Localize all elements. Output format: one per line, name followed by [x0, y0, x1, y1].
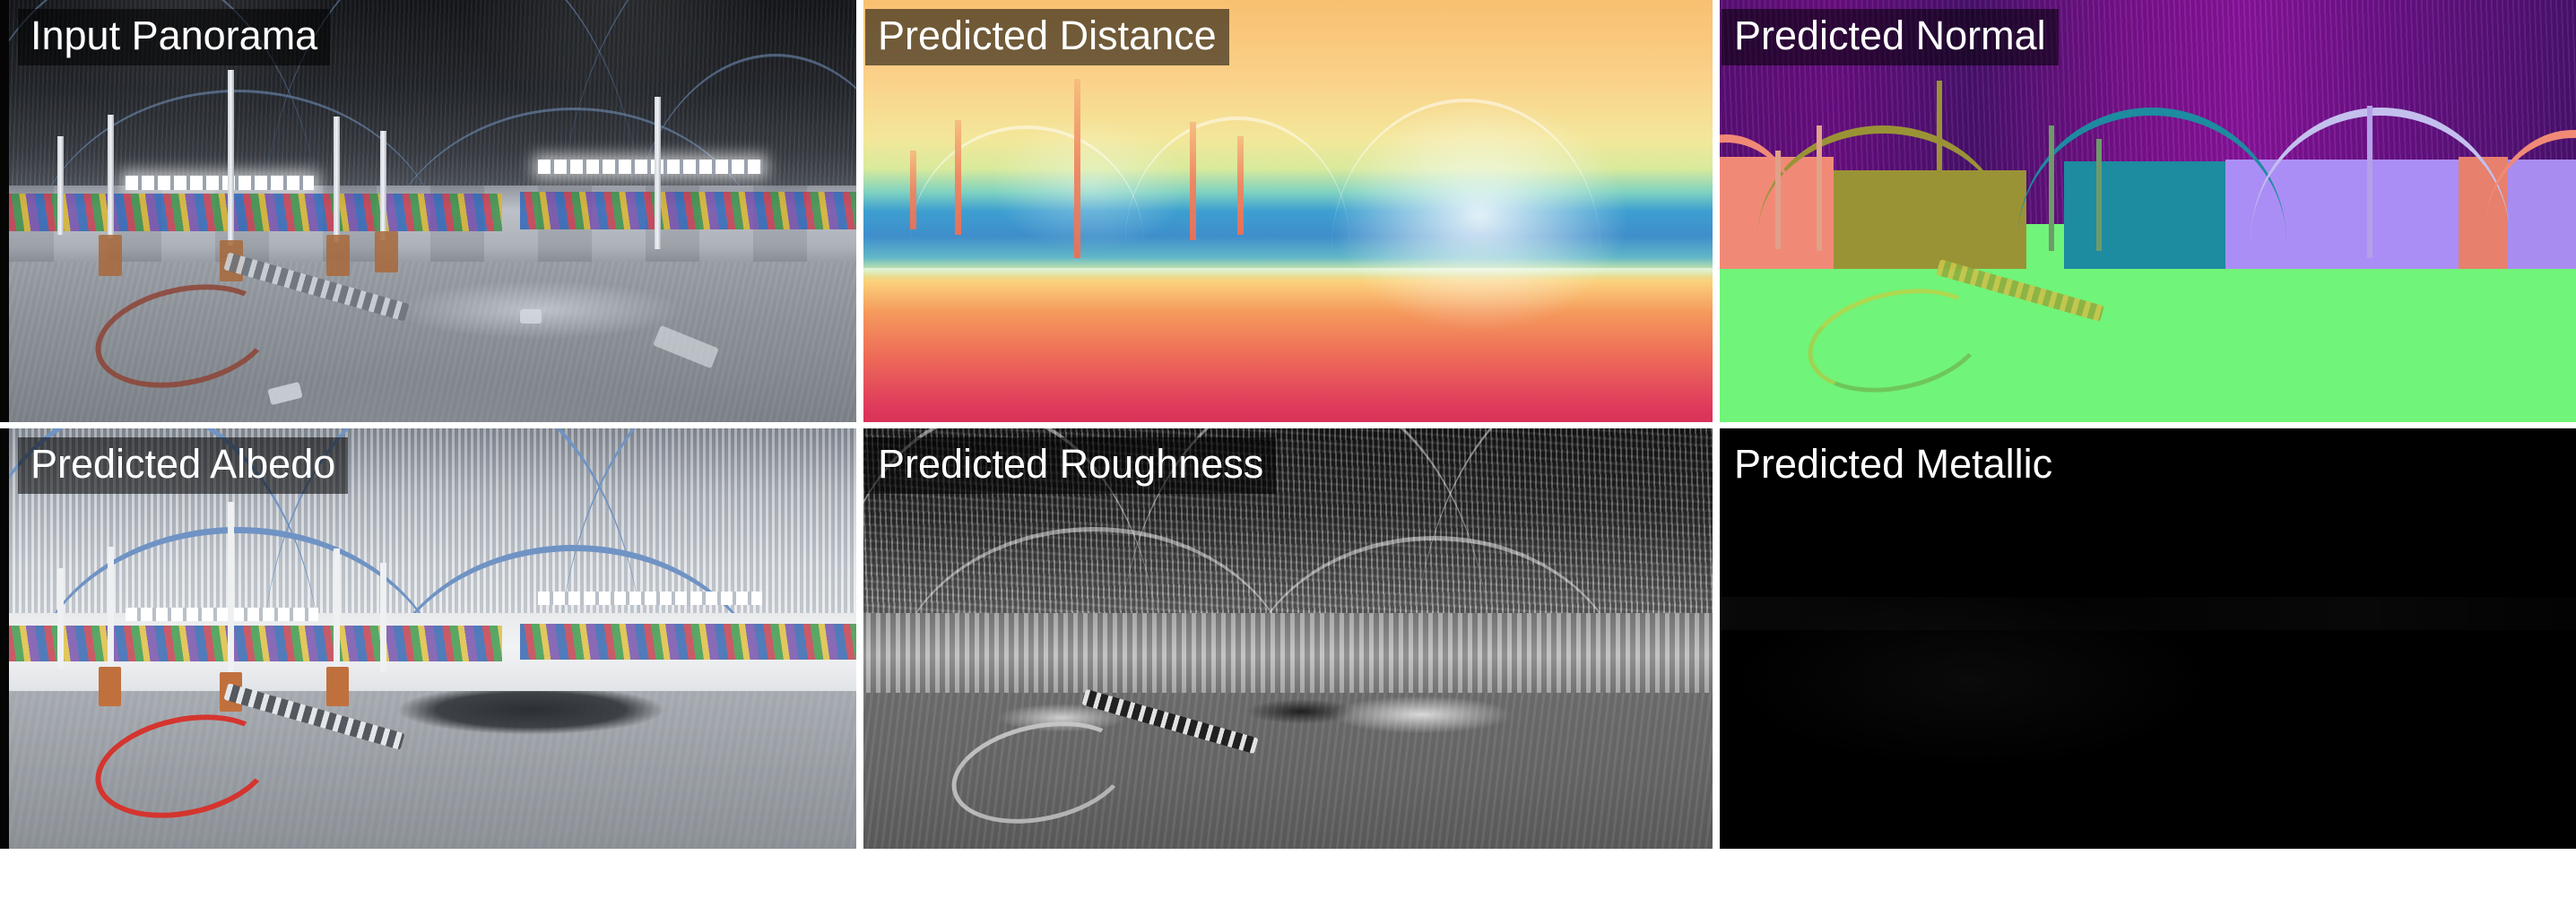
floor-debris	[520, 309, 542, 324]
panel-caption-predicted-metallic: Predicted Metallic	[1722, 437, 2065, 494]
column-normal	[1817, 125, 1822, 251]
figure-footer-whitespace	[0, 849, 2576, 907]
column-normal	[1937, 81, 1942, 260]
column-base-albedo	[99, 667, 121, 706]
figure-root: Input Panorama Predicted Distance	[0, 0, 2576, 907]
panel-predicted-roughness[interactable]: Predicted Roughness	[856, 428, 1713, 849]
steel-column-albedo	[334, 549, 340, 674]
panel-caption-predicted-roughness: Predicted Roughness	[865, 437, 1276, 494]
panel-edge	[0, 428, 9, 849]
column-base-albedo	[326, 667, 349, 706]
wall-roughness	[856, 613, 1713, 697]
panel-predicted-distance[interactable]: Predicted Distance	[856, 0, 1713, 422]
faint-structure-residual	[1713, 597, 2576, 631]
clerestory-window-band	[538, 160, 762, 174]
panel-input-panorama[interactable]: Input Panorama	[0, 0, 856, 422]
clerestory-window-band	[538, 592, 762, 605]
panel-caption-predicted-normal: Predicted Normal	[1722, 9, 2059, 65]
steel-column	[334, 117, 340, 242]
steel-column	[655, 97, 661, 249]
steel-column	[108, 115, 114, 238]
column-depth	[1074, 79, 1080, 258]
steel-column-albedo	[228, 502, 234, 678]
steel-column	[228, 70, 234, 246]
panel-caption-predicted-distance: Predicted Distance	[865, 9, 1229, 65]
panel-caption-input-panorama: Input Panorama	[18, 9, 330, 65]
panel-edge	[0, 0, 9, 422]
panel-predicted-metallic[interactable]: Predicted Metallic	[1713, 428, 2576, 849]
panel-predicted-albedo[interactable]: Predicted Albedo	[0, 428, 856, 849]
column-base	[326, 235, 350, 276]
graffiti-band	[520, 192, 856, 229]
steel-column	[380, 131, 386, 240]
graffiti-band-albedo	[0, 626, 502, 661]
column-depth	[955, 120, 961, 235]
steel-column-albedo	[380, 563, 386, 672]
horizon-line	[856, 268, 1713, 277]
clerestory-window-band	[126, 176, 314, 190]
steel-column-albedo	[108, 547, 114, 670]
panel-edge	[856, 0, 863, 422]
panel-edge	[1713, 0, 1720, 422]
column-normal	[1775, 151, 1781, 249]
steel-column	[57, 136, 64, 235]
panel-edge	[1713, 428, 1720, 849]
column-normal	[2367, 106, 2372, 258]
panel-caption-predicted-albedo: Predicted Albedo	[18, 437, 348, 494]
panel-edge	[856, 428, 863, 849]
column-normal	[2049, 125, 2054, 251]
column-base	[99, 235, 122, 276]
steel-column-albedo	[57, 568, 64, 669]
panel-predicted-normal[interactable]: Predicted Normal	[1713, 0, 2576, 422]
column-base	[375, 231, 398, 272]
column-depth	[1237, 136, 1244, 235]
panel-grid: Input Panorama Predicted Distance	[0, 0, 2576, 849]
column-depth	[910, 151, 916, 229]
graffiti-band	[0, 194, 502, 231]
graffiti-band-albedo	[520, 624, 856, 660]
column-depth	[1190, 122, 1196, 240]
clerestory-window-band	[126, 608, 318, 621]
column-normal	[2096, 139, 2102, 251]
